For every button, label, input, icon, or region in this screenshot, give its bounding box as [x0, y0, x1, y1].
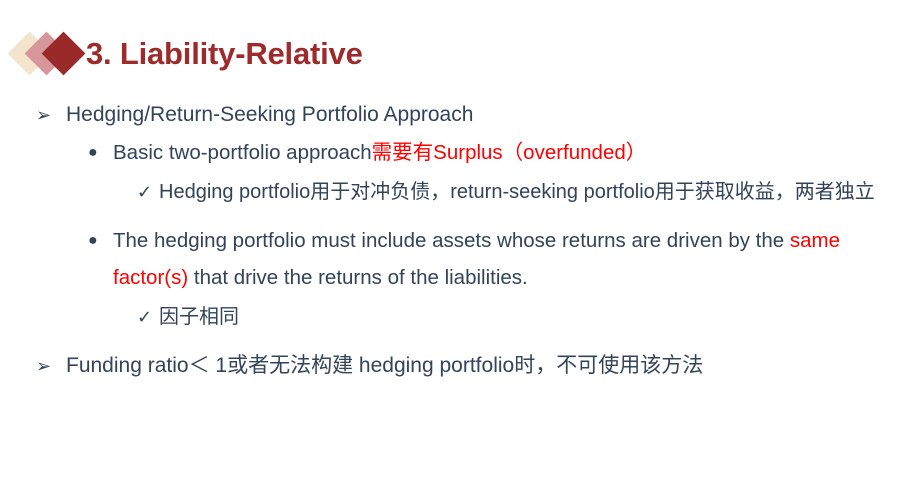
- bullet-item-hedging-vs-return-seeking: ✓ Hedging portfolio用于对冲负债，return-seeking…: [0, 172, 922, 212]
- spacer: [0, 337, 922, 349]
- bullet-item-hedging-approach: ➢ Hedging/Return-Seeking Portfolio Appro…: [0, 98, 922, 132]
- dot-bullet-icon: ●: [88, 134, 113, 171]
- check-bullet-icon: ✓: [137, 172, 159, 212]
- spacer: [0, 212, 922, 222]
- bullet-item-funding-ratio: ➢ Funding ratio＜ 1或者无法构建 hedging portfol…: [0, 349, 922, 383]
- bullet-item-same-factors: ● The hedging portfolio must include ass…: [0, 222, 922, 296]
- bullet-text: The hedging portfolio must include asset…: [113, 222, 913, 296]
- arrow-bullet-icon: ➢: [36, 349, 66, 383]
- arrow-bullet-icon: ➢: [36, 98, 66, 132]
- bullet-item-same-factor-cn: ✓ 因子相同: [0, 297, 922, 337]
- bullet-text: Hedging/Return-Seeking Portfolio Approac…: [66, 98, 473, 132]
- slide-body: ➢ Hedging/Return-Seeking Portfolio Appro…: [0, 98, 922, 385]
- bullet-text-after: that drive the returns of the liabilitie…: [188, 266, 528, 289]
- bullet-text: Hedging portfolio用于对冲负债，return-seeking p…: [159, 172, 875, 212]
- slide-canvas: 3. Liability-Relative ➢ Hedging/Return-S…: [0, 0, 922, 488]
- bullet-text-plain: Basic two-portfolio approach: [113, 141, 372, 164]
- bullet-text-highlight: 需要有Surplus（overfunded）: [372, 141, 647, 164]
- bullet-text: Basic two-portfolio approach需要有Surplus（o…: [113, 134, 646, 171]
- slide-title-row: 3. Liability-Relative: [12, 22, 363, 84]
- check-bullet-icon: ✓: [137, 297, 159, 337]
- three-diamonds-icon: [12, 25, 84, 81]
- dot-bullet-icon: ●: [88, 222, 113, 259]
- page-title: 3. Liability-Relative: [86, 38, 363, 69]
- bullet-text-before: The hedging portfolio must include asset…: [113, 229, 790, 252]
- bullet-text: Funding ratio＜ 1或者无法构建 hedging portfolio…: [66, 349, 703, 383]
- bullet-text: 因子相同: [159, 297, 239, 337]
- bullet-item-basic-two-portfolio: ● Basic two-portfolio approach需要有Surplus…: [0, 134, 922, 171]
